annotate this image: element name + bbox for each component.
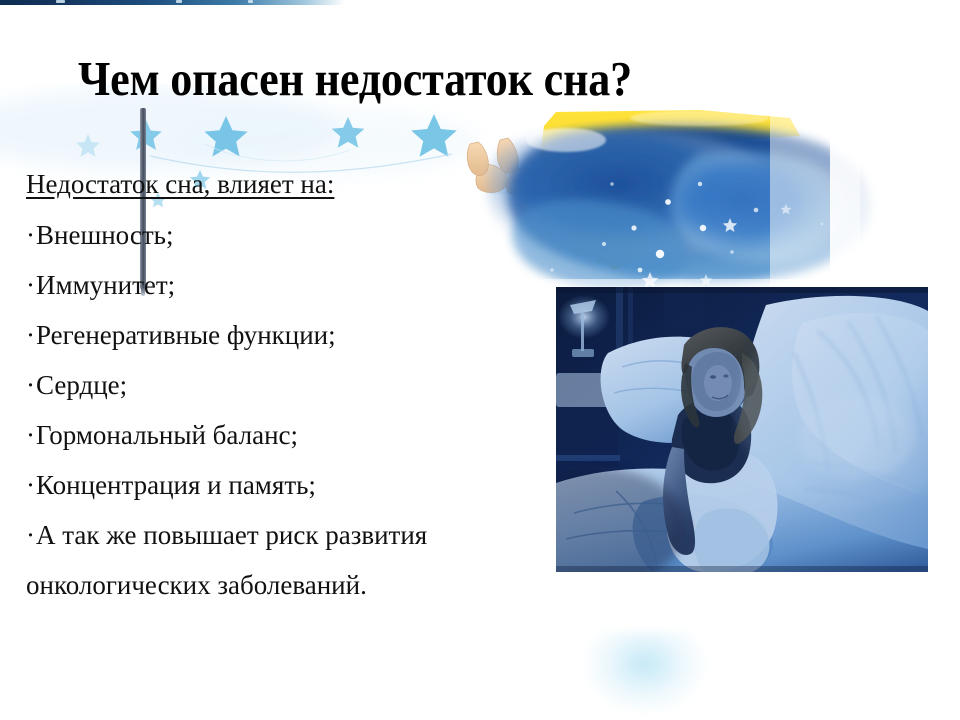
- slide-canvas: Чем опасен недостаток сна? Недостаток сн…: [0, 0, 960, 720]
- bullet-dot-icon: ·: [26, 270, 35, 300]
- bullet-dot-icon: ·: [26, 420, 35, 450]
- list-item: ·А так же повышает риск развития онколог…: [26, 510, 496, 610]
- list-item-label: Сердце;: [36, 370, 127, 400]
- lead-line-wrap: Недостаток сна, влияет на:: [26, 158, 496, 210]
- list-item: ·Иммунитет;: [26, 260, 496, 310]
- list-item-label: Регенеративные функции;: [36, 320, 336, 350]
- topbar-glint-2: [176, 0, 182, 3]
- topbar-glint-3: [248, 0, 253, 3]
- list-item: ·Гормональный баланс;: [26, 410, 496, 460]
- effects-list: ·Внешность; ·Иммунитет; ·Регенеративные …: [26, 210, 496, 610]
- insomnia-photo: Женщина сидит на кровати ночью, держась …: [556, 287, 928, 572]
- list-item-label: Иммунитет;: [36, 270, 175, 300]
- list-item-label: Гормональный баланс;: [36, 420, 298, 450]
- star-sparkles: [538, 182, 823, 304]
- bullet-dot-icon: ·: [26, 370, 35, 400]
- content-text-block: Недостаток сна, влияет на: ·Внешность; ·…: [26, 158, 496, 610]
- topbar-glint-1: [56, 0, 65, 3]
- list-item: ·Внешность;: [26, 210, 496, 260]
- yellow-star-shape: [540, 110, 800, 270]
- background-smudge: [585, 632, 705, 712]
- night-sky-cloud: [488, 126, 871, 290]
- bullet-dot-icon: ·: [26, 220, 35, 250]
- page-title: Чем опасен недостаток сна?: [78, 50, 632, 108]
- lead-line: Недостаток сна, влияет на:: [26, 158, 334, 210]
- top-gradient-bar: [0, 0, 345, 5]
- bullet-dot-icon: ·: [26, 520, 35, 550]
- list-item: ·Сердце;: [26, 360, 496, 410]
- list-item: ·Концентрация и память;: [26, 460, 496, 510]
- list-item-label: Внешность;: [36, 220, 173, 250]
- bullet-dot-icon: ·: [26, 320, 35, 350]
- list-item-label: А так же повышает риск развития онкологи…: [26, 520, 427, 600]
- bullet-dot-icon: ·: [26, 470, 35, 500]
- list-item-label: Концентрация и память;: [36, 470, 316, 500]
- list-item: ·Регенеративные функции;: [26, 310, 496, 360]
